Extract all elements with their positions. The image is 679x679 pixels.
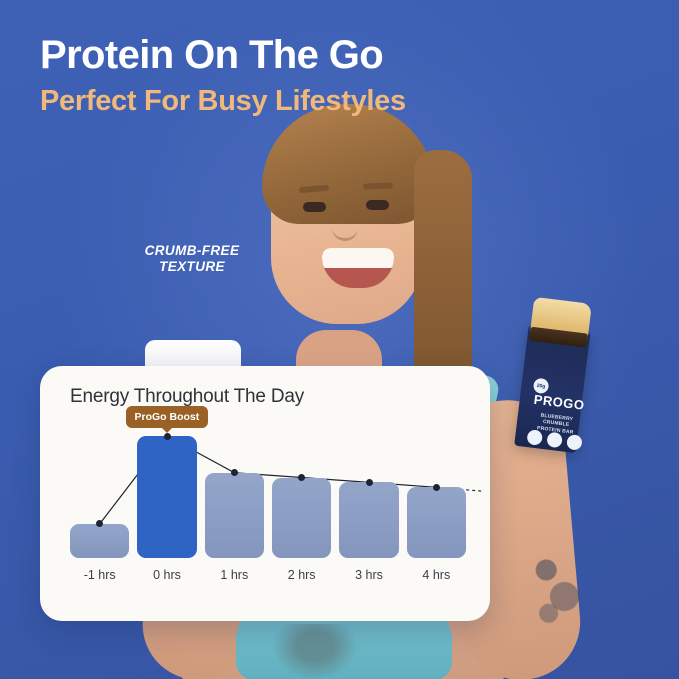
hair-top xyxy=(262,104,434,224)
product-badge-low-sugar-icon xyxy=(546,432,563,449)
page-subtitle: Perfect For Busy Lifestyles xyxy=(40,85,560,119)
chart-data-point xyxy=(366,479,373,486)
teeth xyxy=(322,248,394,268)
page-title: Protein On The Go xyxy=(40,34,560,77)
chart-bar xyxy=(137,436,196,558)
chart-bar xyxy=(407,487,466,558)
chart-x-tick-label: 2 hrs xyxy=(272,568,331,582)
eye-right xyxy=(366,200,389,210)
chart-x-tick-label: 1 hrs xyxy=(205,568,264,582)
chart-bar xyxy=(339,482,398,558)
hair-side xyxy=(414,150,472,400)
crumb-free-badge: CRUMB-FREE TEXTURE xyxy=(122,243,262,276)
chart-x-tick-label: 4 hrs xyxy=(407,568,466,582)
promo-image: PROGO BLUEBERRY CRUMBLE PROTEIN BAR 20g … xyxy=(0,0,679,679)
chart-data-point xyxy=(231,469,238,476)
chart-bar-fill xyxy=(339,482,398,558)
chart-bar-fill xyxy=(272,478,331,558)
product-badge-high-protein-icon xyxy=(526,429,543,446)
chart-bar-fill xyxy=(407,487,466,558)
chart-x-tick-label: -1 hrs xyxy=(70,568,129,582)
chart-x-tick-label: 0 hrs xyxy=(137,568,196,582)
eye-left xyxy=(303,202,326,212)
chart-bar xyxy=(205,473,264,558)
product-badge-gluten-free-icon xyxy=(566,434,583,451)
chart-x-tick-label: 3 hrs xyxy=(339,568,398,582)
product-brand: PROGO xyxy=(533,392,584,413)
chart-bar-fill xyxy=(205,473,264,558)
headline-block: Protein On The Go Perfect For Busy Lifes… xyxy=(40,34,560,119)
chart-bar-fill xyxy=(137,436,196,558)
torso-tattoo xyxy=(272,624,358,679)
chart-data-point xyxy=(164,433,171,440)
chart-bar-fill xyxy=(70,524,129,558)
chart-plot-area: -1 hrs0 hrs1 hrs2 hrs3 hrs4 hrsProGo Boo… xyxy=(70,422,466,582)
chart-title: Energy Throughout The Day xyxy=(70,386,304,408)
chart-bar xyxy=(70,524,129,558)
energy-chart-card: Energy Throughout The Day -1 hrs0 hrs1 h… xyxy=(40,366,490,621)
chart-annotation-tooltip: ProGo Boost xyxy=(126,406,209,428)
chart-data-point xyxy=(433,484,440,491)
chart-bar xyxy=(272,478,331,558)
